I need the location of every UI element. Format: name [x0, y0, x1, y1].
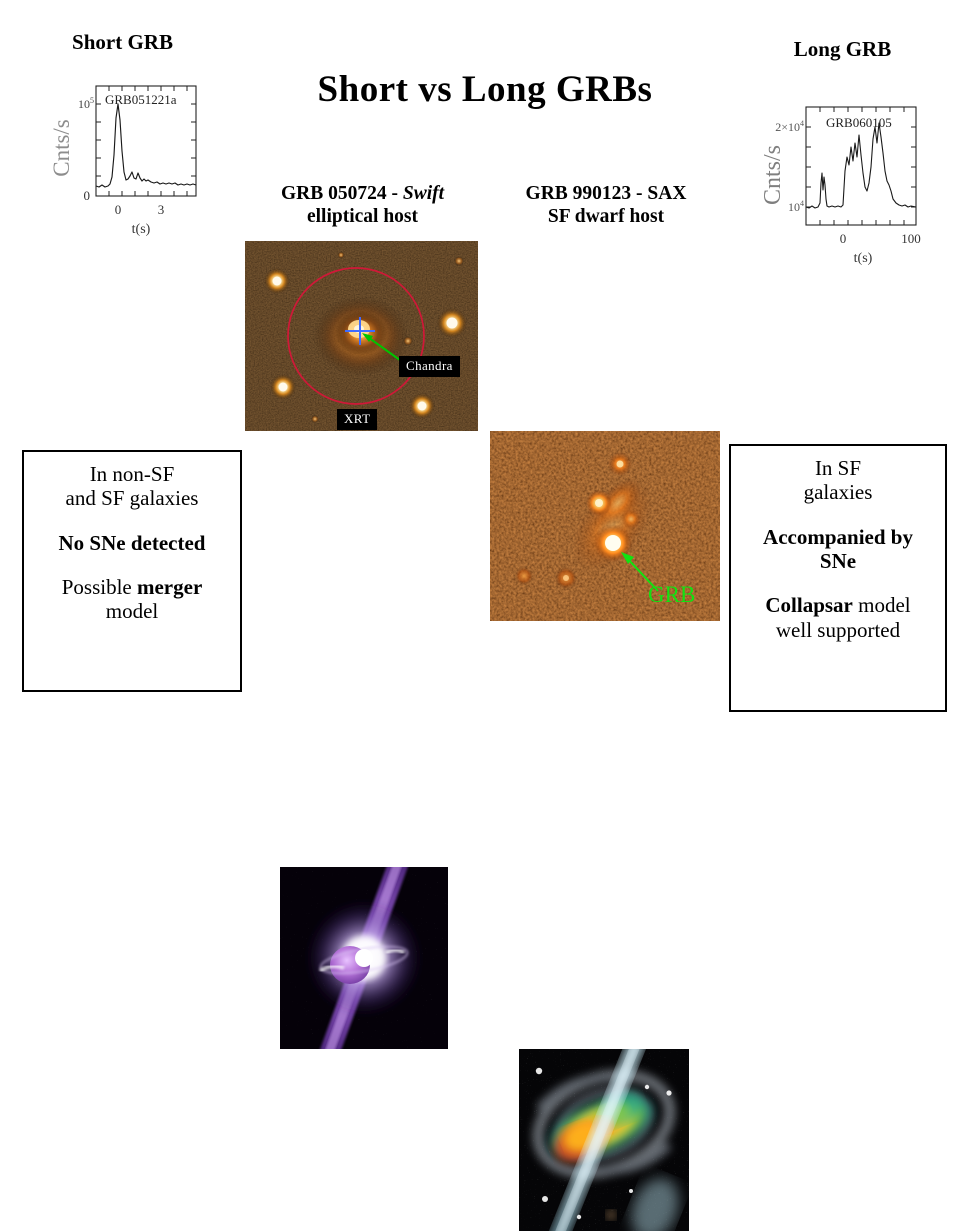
left-box-line-4-prefix: Possible — [62, 575, 137, 599]
left-box-block-3: Possible merger model — [62, 575, 203, 624]
right-box-line-4-keyword: Collapsar — [765, 593, 853, 617]
caption-left-mission: Swift — [403, 183, 444, 204]
collapsar-jet-svg — [519, 1049, 689, 1231]
svg-text:t(s): t(s) — [132, 222, 151, 237]
merger-jet-svg — [280, 867, 448, 1049]
right-box-block-1: In SF galaxies — [804, 456, 873, 505]
right-box-line-4-suffix: model — [853, 593, 911, 617]
svg-text:4: 4 — [800, 199, 804, 208]
caption-right-title: GRB 990123 - SAX — [490, 182, 722, 205]
right-box-block-2: Accompanied by SNe — [763, 525, 913, 574]
chandra-label: Chandra — [399, 356, 460, 377]
svg-text:5: 5 — [90, 96, 94, 105]
grb-050724-field-svg — [245, 241, 478, 431]
left-box-line-3: No SNe detected — [59, 531, 206, 555]
svg-text:0: 0 — [84, 188, 91, 203]
grb-050724-image-panel: Chandra XRT — [245, 241, 478, 431]
right-box-line-3b: SNe — [763, 549, 913, 573]
short-grb-heading: Short GRB — [40, 30, 205, 55]
right-box-line-2: galaxies — [804, 480, 873, 504]
short-grb-summary-box: In non-SF and SF galaxies No SNe detecte… — [22, 450, 242, 692]
left-box-block-2: No SNe detected — [59, 531, 206, 555]
svg-text:t(s): t(s) — [854, 251, 873, 266]
short-grb-lightcurve-svg: 10 5 0 0 3 t(s) GRB051221a Cnts/s — [33, 73, 209, 247]
svg-text:GRB051221a: GRB051221a — [105, 92, 177, 107]
merger-illustration — [280, 867, 448, 1049]
svg-text:10: 10 — [788, 200, 800, 214]
collapsar-illustration — [519, 1049, 689, 1231]
long-grb-summary-box: In SF galaxies Accompanied by SNe Collap… — [729, 444, 947, 712]
right-box-line-5: well supported — [765, 618, 910, 642]
svg-text:Cnts/s: Cnts/s — [49, 119, 74, 177]
long-grb-lightcurve-plot: 2×10 4 10 4 0 100 t(s) GRB060105 Cnts/s — [748, 95, 938, 275]
svg-text:10: 10 — [78, 97, 90, 111]
svg-text:0: 0 — [840, 231, 847, 246]
left-box-block-1: In non-SF and SF galaxies — [66, 462, 199, 511]
right-box-line-3a: Accompanied by — [763, 525, 913, 549]
caption-left-prefix: GRB 050724 - — [281, 183, 403, 204]
svg-text:100: 100 — [901, 231, 921, 246]
svg-text:2×10: 2×10 — [775, 120, 800, 134]
svg-text:0: 0 — [115, 202, 122, 217]
svg-text:Cnts/s: Cnts/s — [760, 145, 786, 205]
right-panel-caption: GRB 990123 - SAX SF dwarf host — [490, 182, 722, 228]
svg-text:4: 4 — [800, 119, 804, 128]
page-title: Short vs Long GRBs — [250, 68, 720, 111]
short-grb-lightcurve-plot: 10 5 0 0 3 t(s) GRB051221a Cnts/s — [33, 73, 209, 247]
long-grb-lightcurve-svg: 2×10 4 10 4 0 100 t(s) GRB060105 Cnts/s — [748, 95, 938, 275]
right-box-block-3: Collapsar model well supported — [765, 593, 910, 642]
left-box-line-2: and SF galaxies — [66, 486, 199, 510]
long-grb-heading: Long GRB — [765, 37, 920, 62]
caption-left-host: elliptical host — [245, 205, 480, 228]
svg-text:GRB060105: GRB060105 — [826, 115, 892, 130]
grb-arrow-label: GRB — [648, 582, 695, 608]
svg-text:3: 3 — [158, 202, 165, 217]
xrt-label: XRT — [337, 409, 377, 430]
left-panel-caption: GRB 050724 - Swift elliptical host — [245, 182, 480, 228]
caption-right-host: SF dwarf host — [490, 205, 722, 228]
left-box-line-4-keyword: merger — [137, 575, 202, 599]
left-box-line-1: In non-SF — [66, 462, 199, 486]
left-box-line-5: model — [62, 599, 203, 623]
right-box-line-1: In SF — [804, 456, 873, 480]
grb-990123-image-panel: GRB — [490, 431, 720, 621]
